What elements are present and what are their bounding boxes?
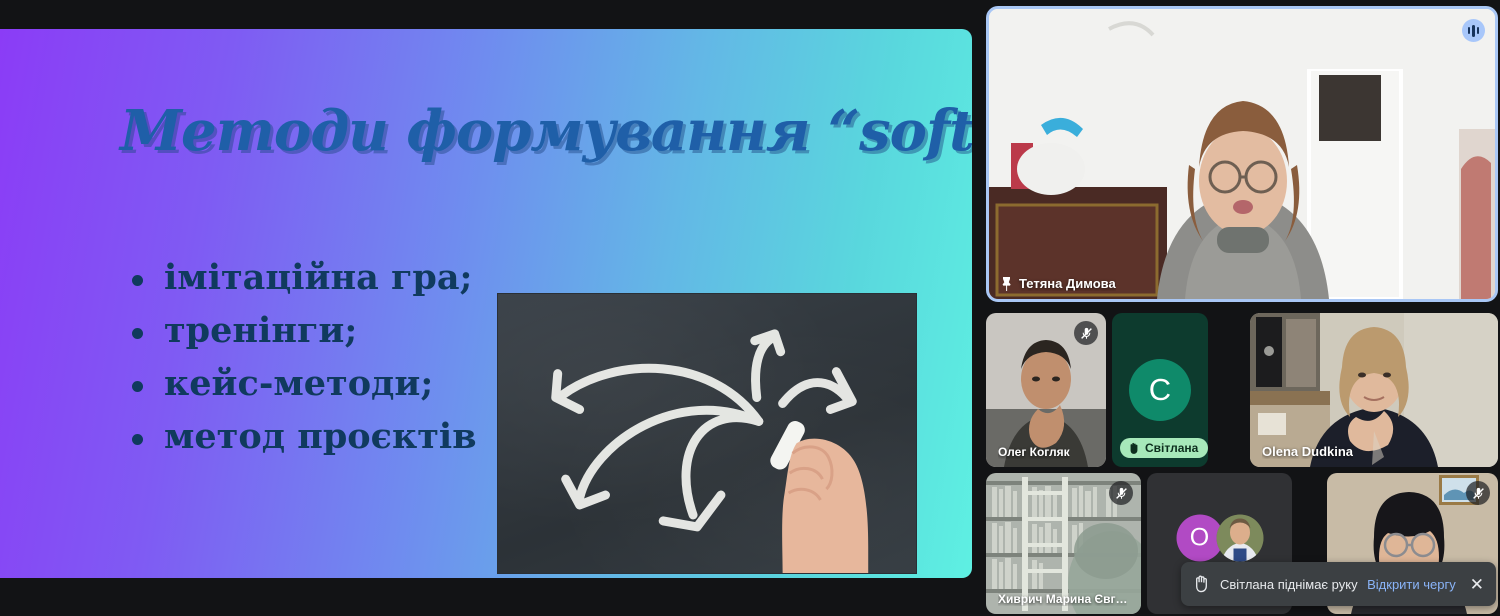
participant-tile-main[interactable]: Тетяна Димова [986, 6, 1498, 302]
mic-off-icon [1074, 321, 1098, 345]
raised-hand-icon [1128, 442, 1140, 455]
participant-name-label: Тетяна Димова [1001, 276, 1116, 291]
toast-message: Світлана піднімає руку [1220, 577, 1358, 592]
participant-name-text: Олег Когляк [998, 445, 1070, 459]
mic-off-icon [1466, 481, 1490, 505]
participant-tile-svitlana[interactable]: C Світлана [1112, 313, 1208, 467]
meeting-screen: Методи формування “soft skills” імітацій… [0, 0, 1500, 616]
presentation-area[interactable]: Методи формування “soft skills” імітацій… [0, 0, 978, 616]
slide-bullet-list: імітаційна гра; тренінги; кейс-методи; м… [126, 251, 526, 463]
slide-bullet: тренінги; [126, 304, 526, 357]
slide-bullet: метод проєктів [126, 410, 526, 463]
open-queue-link[interactable]: Відкрити чергу [1367, 577, 1456, 592]
slide: Методи формування “soft skills” імітацій… [0, 29, 972, 578]
slide-bullet: імітаційна гра; [126, 251, 526, 304]
close-icon[interactable]: ✕ [1470, 576, 1484, 593]
mic-off-icon [1109, 481, 1133, 505]
participant-name-text: Світлана [1145, 441, 1198, 455]
hand-with-chalk-icon [498, 294, 916, 574]
audio-waveform-icon [1462, 19, 1485, 42]
raised-hand-icon [1193, 575, 1210, 593]
participant-tile-olena[interactable]: Olena Dudkina [1250, 313, 1498, 467]
participant-name-label: Олег Когляк [998, 445, 1070, 459]
hand-raised-badge: Світлана [1120, 438, 1208, 458]
participant-name-text: Тетяна Димова [1019, 276, 1116, 291]
participant-name-text: Хиврич Марина Євг… [998, 592, 1127, 606]
slide-title: Методи формування “soft skills” [120, 103, 920, 159]
participant-tile-oleh[interactable]: Олег Когляк [986, 313, 1106, 467]
slide-bullet: кейс-методи; [126, 357, 526, 410]
chalkboard-image [497, 293, 917, 574]
raise-hand-toast[interactable]: Світлана піднімає руку Відкрити чергу ✕ [1181, 562, 1496, 606]
avatar-group: O [1176, 514, 1263, 561]
participant-grid: Тетяна Димова [984, 0, 1500, 616]
participant-name-label: Olena Dudkina [1262, 444, 1353, 459]
pin-icon [1001, 277, 1012, 291]
participant-tile-marina[interactable]: Хиврич Марина Євг… [986, 473, 1141, 614]
video-feed [989, 9, 1495, 299]
participant-name-label: Хиврич Марина Євг… [998, 592, 1127, 606]
participant-name-text: Olena Dudkina [1262, 444, 1353, 459]
avatar: C [1129, 359, 1191, 421]
avatar-photo [1216, 514, 1263, 561]
